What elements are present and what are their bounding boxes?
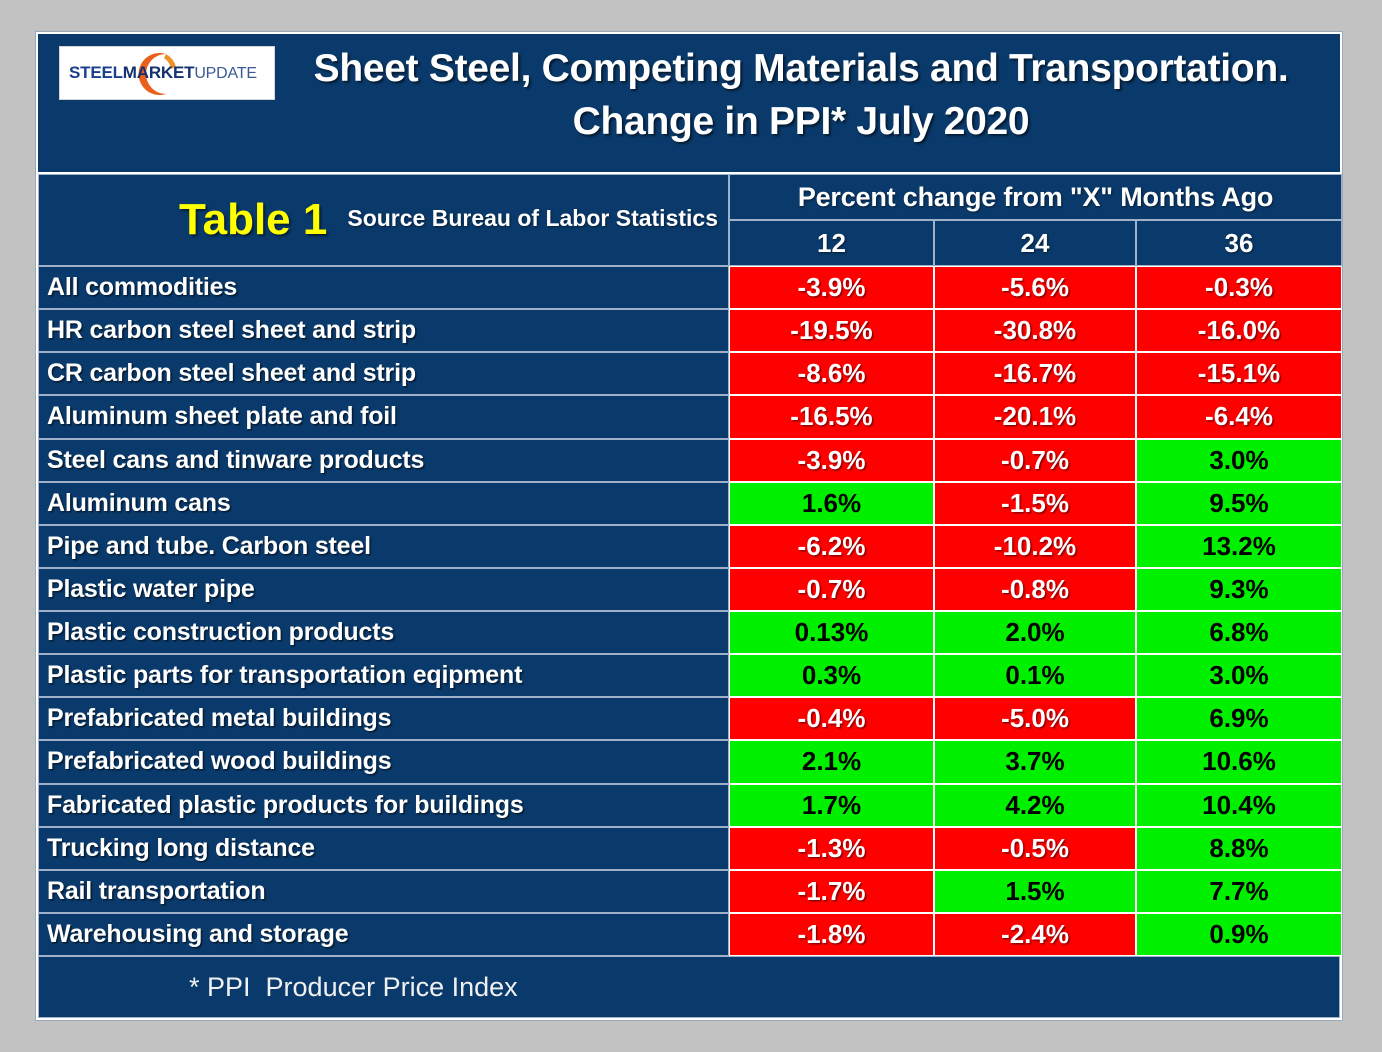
value-cell-24: -10.2% (934, 525, 1136, 568)
value-cell-12: 1.7% (729, 784, 934, 827)
row-label: HR carbon steel sheet and strip (38, 309, 729, 352)
column-group-label: Percent change from "X" Months Ago (729, 174, 1342, 220)
row-label: Warehousing and storage (38, 913, 729, 956)
steel-market-update-logo: STEELMARKETUPDATE (59, 46, 275, 100)
table-row: Prefabricated metal buildings-0.4%-5.0%6… (38, 697, 1340, 740)
row-label: Prefabricated wood buildings (38, 740, 729, 783)
value-cell-24: -16.7% (934, 352, 1136, 395)
value-cell-12: 0.13% (729, 611, 934, 654)
row-label: Plastic parts for transportation eqipmen… (38, 654, 729, 697)
value-cell-24: -0.8% (934, 568, 1136, 611)
table-caption-cell: Table 1 Source Bureau of Labor Statistic… (38, 174, 729, 266)
value-cell-12: -0.7% (729, 568, 934, 611)
table-row: Plastic parts for transportation eqipmen… (38, 654, 1340, 697)
value-cell-12: 0.3% (729, 654, 934, 697)
value-cell-36: 3.0% (1136, 439, 1342, 482)
table-row: Plastic water pipe-0.7%-0.8%9.3% (38, 568, 1340, 611)
value-cell-36: 8.8% (1136, 827, 1342, 870)
header-row-months: 12 24 36 (729, 220, 1342, 266)
column-header-12[interactable]: 12 (729, 220, 934, 266)
table-row: Pipe and tube. Carbon steel-6.2%-10.2%13… (38, 525, 1340, 568)
column-header-36[interactable]: 36 (1136, 220, 1342, 266)
table-row: Trucking long distance-1.3%-0.5%8.8% (38, 827, 1340, 870)
value-cell-24: 0.1% (934, 654, 1136, 697)
table-row: Prefabricated wood buildings2.1%3.7%10.6… (38, 740, 1340, 783)
value-cell-36: 7.7% (1136, 870, 1342, 913)
logo-word-market: MARKET (123, 63, 195, 82)
table-number-label: Table 1 (179, 195, 327, 245)
value-cell-12: -8.6% (729, 352, 934, 395)
row-label: Trucking long distance (38, 827, 729, 870)
value-cell-24: 4.2% (934, 784, 1136, 827)
source-label: Source Bureau of Labor Statistics (347, 205, 718, 236)
row-label: Plastic construction products (38, 611, 729, 654)
value-cell-24: -20.1% (934, 395, 1136, 438)
row-label: Prefabricated metal buildings (38, 697, 729, 740)
table-row: CR carbon steel sheet and strip-8.6%-16.… (38, 352, 1340, 395)
table-row: Steel cans and tinware products-3.9%-0.7… (38, 439, 1340, 482)
value-cell-36: 6.9% (1136, 697, 1342, 740)
title-bar: STEELMARKETUPDATE Sheet Steel, Competing… (38, 34, 1340, 174)
row-label: Aluminum cans (38, 482, 729, 525)
value-cell-12: -1.3% (729, 827, 934, 870)
table-body: All commodities-3.9%-5.6%-0.3%HR carbon … (38, 266, 1340, 956)
row-label: Steel cans and tinware products (38, 439, 729, 482)
logo-wordmark: STEELMARKETUPDATE (69, 63, 269, 84)
table-row: Rail transportation-1.7%1.5%7.7% (38, 870, 1340, 913)
value-cell-36: -15.1% (1136, 352, 1342, 395)
logo-word-steel: STEEL (69, 63, 123, 82)
row-label: Fabricated plastic products for building… (38, 784, 729, 827)
footnote: * PPI Producer Price Index (38, 956, 1340, 1018)
value-cell-12: -0.4% (729, 697, 934, 740)
value-cell-36: -0.3% (1136, 266, 1342, 309)
value-cell-36: 6.8% (1136, 611, 1342, 654)
row-label: Pipe and tube. Carbon steel (38, 525, 729, 568)
table-row: All commodities-3.9%-5.6%-0.3% (38, 266, 1340, 309)
row-label: Aluminum sheet plate and foil (38, 395, 729, 438)
value-cell-36: 10.6% (1136, 740, 1342, 783)
percent-change-group: Percent change from "X" Months Ago 12 24… (729, 174, 1342, 266)
value-cell-12: -3.9% (729, 266, 934, 309)
value-cell-12: -3.9% (729, 439, 934, 482)
column-header-24[interactable]: 24 (934, 220, 1136, 266)
value-cell-24: -5.6% (934, 266, 1136, 309)
value-cell-12: 1.6% (729, 482, 934, 525)
value-cell-12: -19.5% (729, 309, 934, 352)
ppi-table-panel: STEELMARKETUPDATE Sheet Steel, Competing… (36, 32, 1342, 1020)
value-cell-36: 9.3% (1136, 568, 1342, 611)
value-cell-36: 9.5% (1136, 482, 1342, 525)
logo-word-update: UPDATE (194, 65, 257, 82)
row-label: Rail transportation (38, 870, 729, 913)
table-row: Warehousing and storage-1.8%-2.4%0.9% (38, 913, 1340, 956)
table-row: HR carbon steel sheet and strip-19.5%-30… (38, 309, 1340, 352)
value-cell-24: 2.0% (934, 611, 1136, 654)
value-cell-36: 0.9% (1136, 913, 1342, 956)
value-cell-36: 10.4% (1136, 784, 1342, 827)
value-cell-12: -1.8% (729, 913, 934, 956)
table-row: Fabricated plastic products for building… (38, 784, 1340, 827)
value-cell-24: -30.8% (934, 309, 1136, 352)
value-cell-24: -1.5% (934, 482, 1136, 525)
value-cell-24: -5.0% (934, 697, 1136, 740)
row-label: All commodities (38, 266, 729, 309)
value-cell-24: -2.4% (934, 913, 1136, 956)
value-cell-24: -0.7% (934, 439, 1136, 482)
table-header: Table 1 Source Bureau of Labor Statistic… (38, 174, 1340, 266)
header-row-top: Table 1 Source Bureau of Labor Statistic… (38, 174, 1340, 266)
table-row: Aluminum sheet plate and foil-16.5%-20.1… (38, 395, 1340, 438)
row-label: Plastic water pipe (38, 568, 729, 611)
value-cell-36: 3.0% (1136, 654, 1342, 697)
table-row: Aluminum cans1.6%-1.5%9.5% (38, 482, 1340, 525)
page-title: Sheet Steel, Competing Materials and Tra… (270, 42, 1332, 148)
value-cell-36: -16.0% (1136, 309, 1342, 352)
table-row: Plastic construction products0.13%2.0%6.… (38, 611, 1340, 654)
value-cell-24: -0.5% (934, 827, 1136, 870)
value-cell-36: 13.2% (1136, 525, 1342, 568)
value-cell-12: -6.2% (729, 525, 934, 568)
row-label: CR carbon steel sheet and strip (38, 352, 729, 395)
value-cell-12: 2.1% (729, 740, 934, 783)
value-cell-24: 1.5% (934, 870, 1136, 913)
value-cell-36: -6.4% (1136, 395, 1342, 438)
value-cell-12: -1.7% (729, 870, 934, 913)
value-cell-12: -16.5% (729, 395, 934, 438)
value-cell-24: 3.7% (934, 740, 1136, 783)
